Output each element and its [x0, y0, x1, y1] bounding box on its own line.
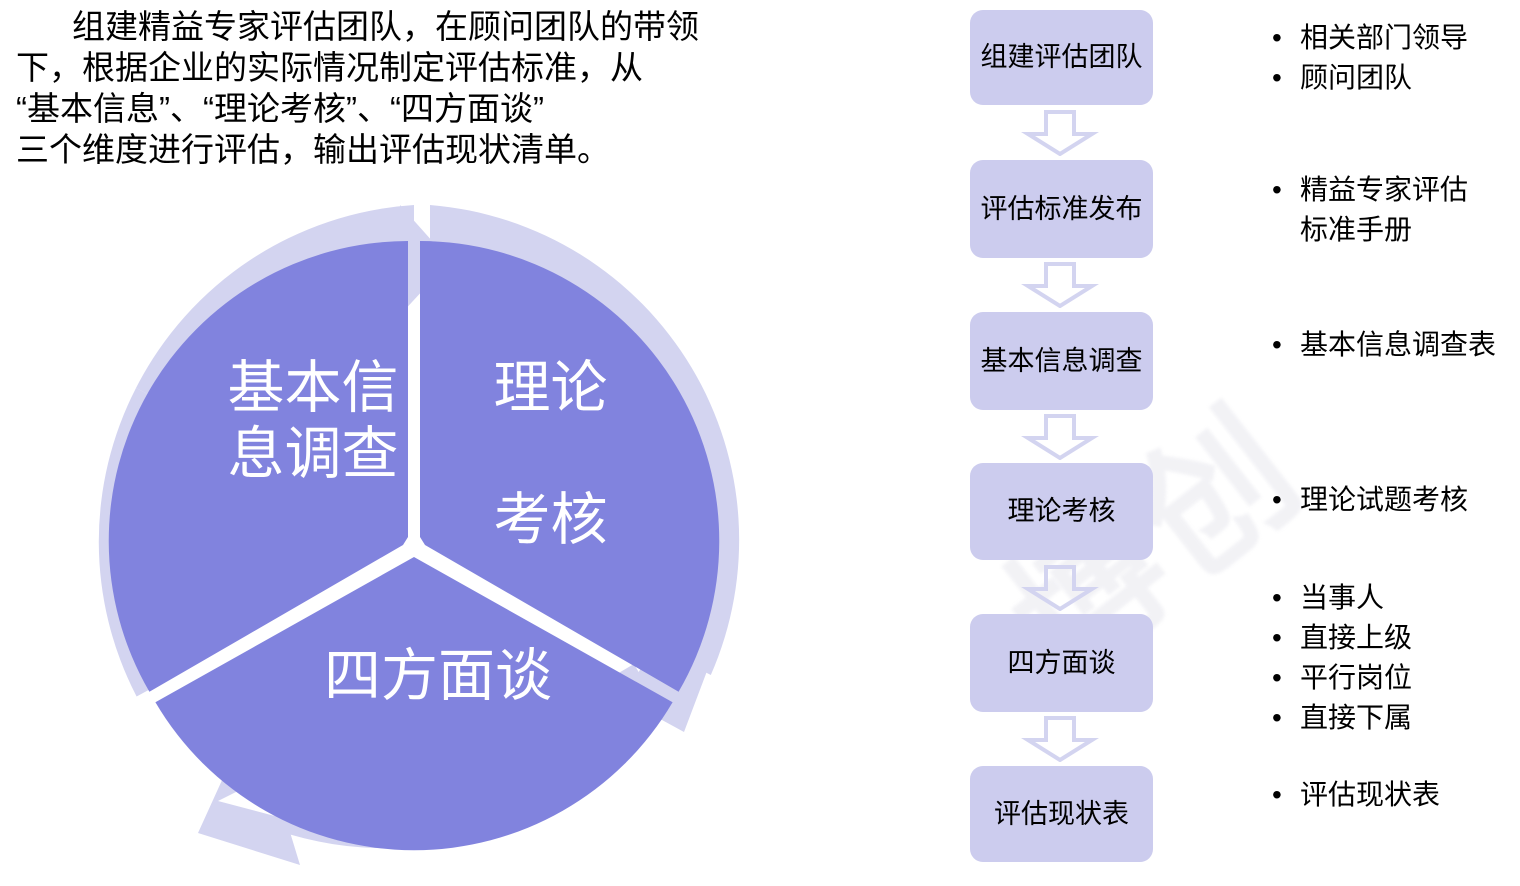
cycle-diagram-svg: [78, 205, 750, 877]
list-item-label: 顾问团队: [1300, 58, 1412, 98]
list-item-label: 直接下属: [1300, 698, 1412, 738]
flow-step-3[interactable]: 基本信息调查: [970, 312, 1153, 410]
list-item: •当事人: [1272, 578, 1520, 618]
list-item: •直接上级: [1272, 618, 1520, 658]
paragraph-line: 三个维度进行评估，输出评估现状清单。: [16, 129, 816, 170]
bullet-icon: •: [1272, 325, 1300, 365]
paragraph-line-text: “基本信息”、“理论考核”、“四方面谈”: [16, 90, 544, 127]
paragraph-line-text: 组建精益专家评估团队，在顾问团队的带领: [72, 8, 699, 45]
bullet-icon: •: [1272, 58, 1300, 98]
output-list: •相关部门领导 •顾问团队 •精益专家评估 标准手册 •基本信息调查表 •理论试…: [1272, 0, 1520, 886]
bullet-icon: •: [1272, 658, 1300, 698]
list-item: •平行岗位: [1272, 658, 1520, 698]
flow-arrow-3: [1020, 414, 1100, 460]
list-item: •理论试题考核: [1272, 480, 1520, 520]
paragraph-line: “基本信息”、“理论考核”、“四方面谈”: [16, 88, 816, 129]
list-item: •直接下属: [1272, 698, 1520, 738]
paragraph-line-text: 三个维度进行评估，输出评估现状清单。: [16, 131, 610, 168]
description-paragraph: 组建精益专家评估团队，在顾问团队的带领 下，根据企业的实际情况制定评估标准，从 …: [16, 6, 816, 170]
output-group-5: •当事人 •直接上级 •平行岗位 •直接下属: [1272, 578, 1520, 738]
paragraph-line: 下，根据企业的实际情况制定评估标准，从: [16, 47, 816, 88]
output-group-6: •评估现状表: [1272, 775, 1520, 815]
flow-arrow-5: [1020, 716, 1100, 762]
bullet-icon: •: [1272, 698, 1300, 738]
list-item: •顾问团队: [1272, 58, 1520, 98]
cycle-segments: [109, 241, 720, 850]
list-item: •评估现状表: [1272, 775, 1520, 815]
bullet-icon: •: [1272, 618, 1300, 658]
flow-step-5[interactable]: 四方面谈: [970, 614, 1153, 712]
paragraph-line-text: 下，根据企业的实际情况制定评估标准，从: [16, 49, 643, 86]
list-item-label: 平行岗位: [1300, 658, 1412, 698]
flow-step-2[interactable]: 评估标准发布: [970, 160, 1153, 258]
slide-canvas: 博创 组建精益专家评估团队，在顾问团队的带领 下，根据企业的实际情况制定评估标准…: [0, 0, 1520, 886]
list-item-label: 评估现状表: [1300, 775, 1440, 815]
output-group-4: •理论试题考核: [1272, 480, 1520, 520]
list-item-label: 直接上级: [1300, 618, 1412, 658]
bullet-icon: •: [1272, 18, 1300, 58]
list-item-label: 当事人: [1300, 578, 1384, 618]
paragraph-line: 组建精益专家评估团队，在顾问团队的带领: [16, 6, 816, 47]
list-item-label: 相关部门领导: [1300, 18, 1468, 58]
bullet-icon: •: [1272, 578, 1300, 618]
list-item: •精益专家评估: [1272, 170, 1520, 210]
flow-arrow-2: [1020, 262, 1100, 308]
cycle-diagram: 基本信 息调查 理论 考核 四方面谈: [78, 205, 750, 877]
list-item: •基本信息调查表: [1272, 325, 1520, 365]
list-item-label: 精益专家评估: [1300, 170, 1468, 210]
flow-arrow-1: [1020, 110, 1100, 156]
flow-arrow-4: [1020, 565, 1100, 611]
flow-step-6[interactable]: 评估现状表: [970, 766, 1153, 862]
flow-step-4[interactable]: 理论考核: [970, 463, 1153, 560]
list-item-label: 基本信息调查表: [1300, 325, 1496, 365]
output-group-1: •相关部门领导 •顾问团队: [1272, 18, 1520, 98]
list-item: •相关部门领导: [1272, 18, 1520, 58]
bullet-icon: •: [1272, 480, 1300, 520]
bullet-icon: •: [1272, 170, 1300, 210]
process-flow: 组建评估团队 评估标准发布 基本信息调查 理论考核 四方面谈 评估现状表: [970, 0, 1153, 886]
list-item-label: 理论试题考核: [1300, 480, 1468, 520]
output-group-3: •基本信息调查表: [1272, 325, 1520, 365]
output-group-2: •精益专家评估 标准手册: [1272, 170, 1520, 250]
list-item-continuation: 标准手册: [1272, 210, 1520, 250]
flow-step-1[interactable]: 组建评估团队: [970, 10, 1153, 105]
bullet-icon: •: [1272, 775, 1300, 815]
